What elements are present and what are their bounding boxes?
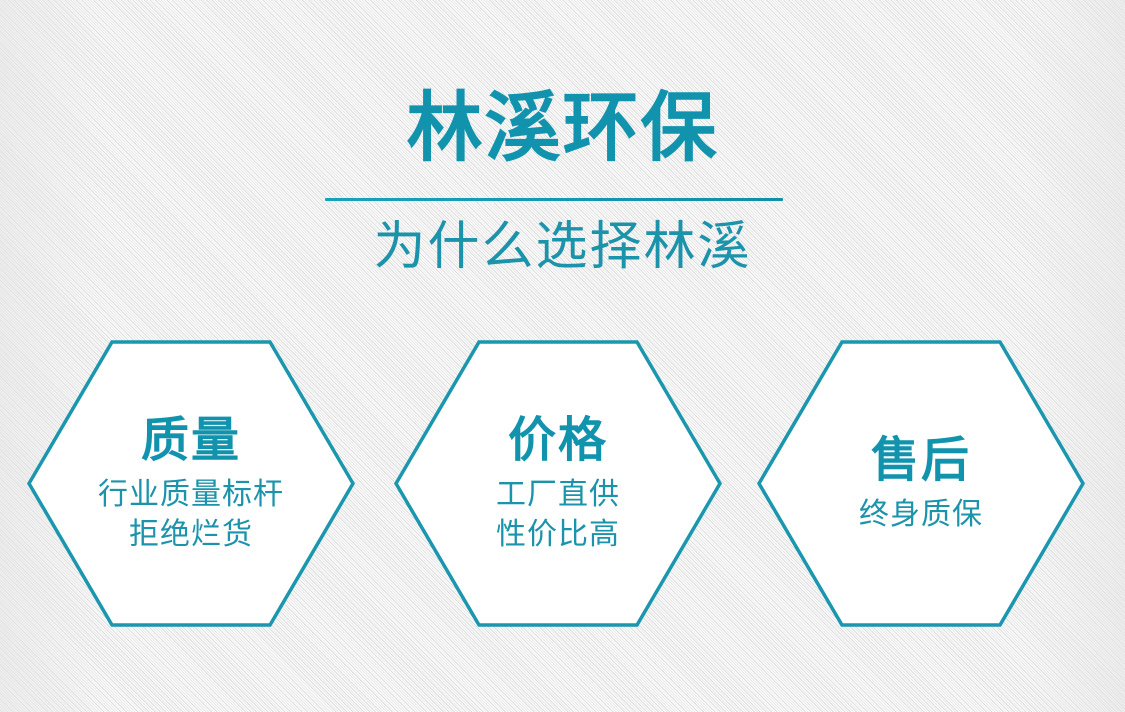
feature-card-heading: 售后: [871, 433, 971, 489]
feature-card-line: 拒绝烂货: [98, 515, 284, 555]
page-subtitle: 为什么选择林溪: [0, 216, 1125, 278]
feature-card-lines: 终身质保: [859, 495, 983, 535]
feature-card-content: 售后 终身质保: [757, 340, 1085, 627]
feature-card-line: 工厂直供: [496, 475, 620, 515]
feature-hexagon-row: 质量 行业质量标杆 拒绝烂货 价格 工厂直供 性价比高: [0, 340, 1125, 628]
feature-card-content: 质量 行业质量标杆 拒绝烂货: [27, 340, 355, 627]
feature-card-quality[interactable]: 质量 行业质量标杆 拒绝烂货: [27, 340, 355, 627]
feature-card-lines: 工厂直供 性价比高: [496, 475, 620, 555]
feature-card-price[interactable]: 价格 工厂直供 性价比高: [394, 340, 722, 627]
feature-card-heading: 价格: [508, 413, 608, 469]
feature-card-lines: 行业质量标杆 拒绝烂货: [98, 475, 284, 555]
page-title: 林溪环保: [0, 86, 1125, 172]
feature-card-line: 终身质保: [859, 495, 983, 535]
feature-card-after-sales[interactable]: 售后 终身质保: [757, 340, 1085, 627]
feature-card-heading: 质量: [141, 413, 241, 469]
feature-card-line: 性价比高: [496, 515, 620, 555]
title-divider: [325, 198, 783, 201]
feature-card-line: 行业质量标杆: [98, 475, 284, 515]
promo-banner: 林溪环保 为什么选择林溪 质量 行业质量标杆 拒绝烂货 价格: [0, 0, 1125, 712]
feature-card-content: 价格 工厂直供 性价比高: [394, 340, 722, 627]
